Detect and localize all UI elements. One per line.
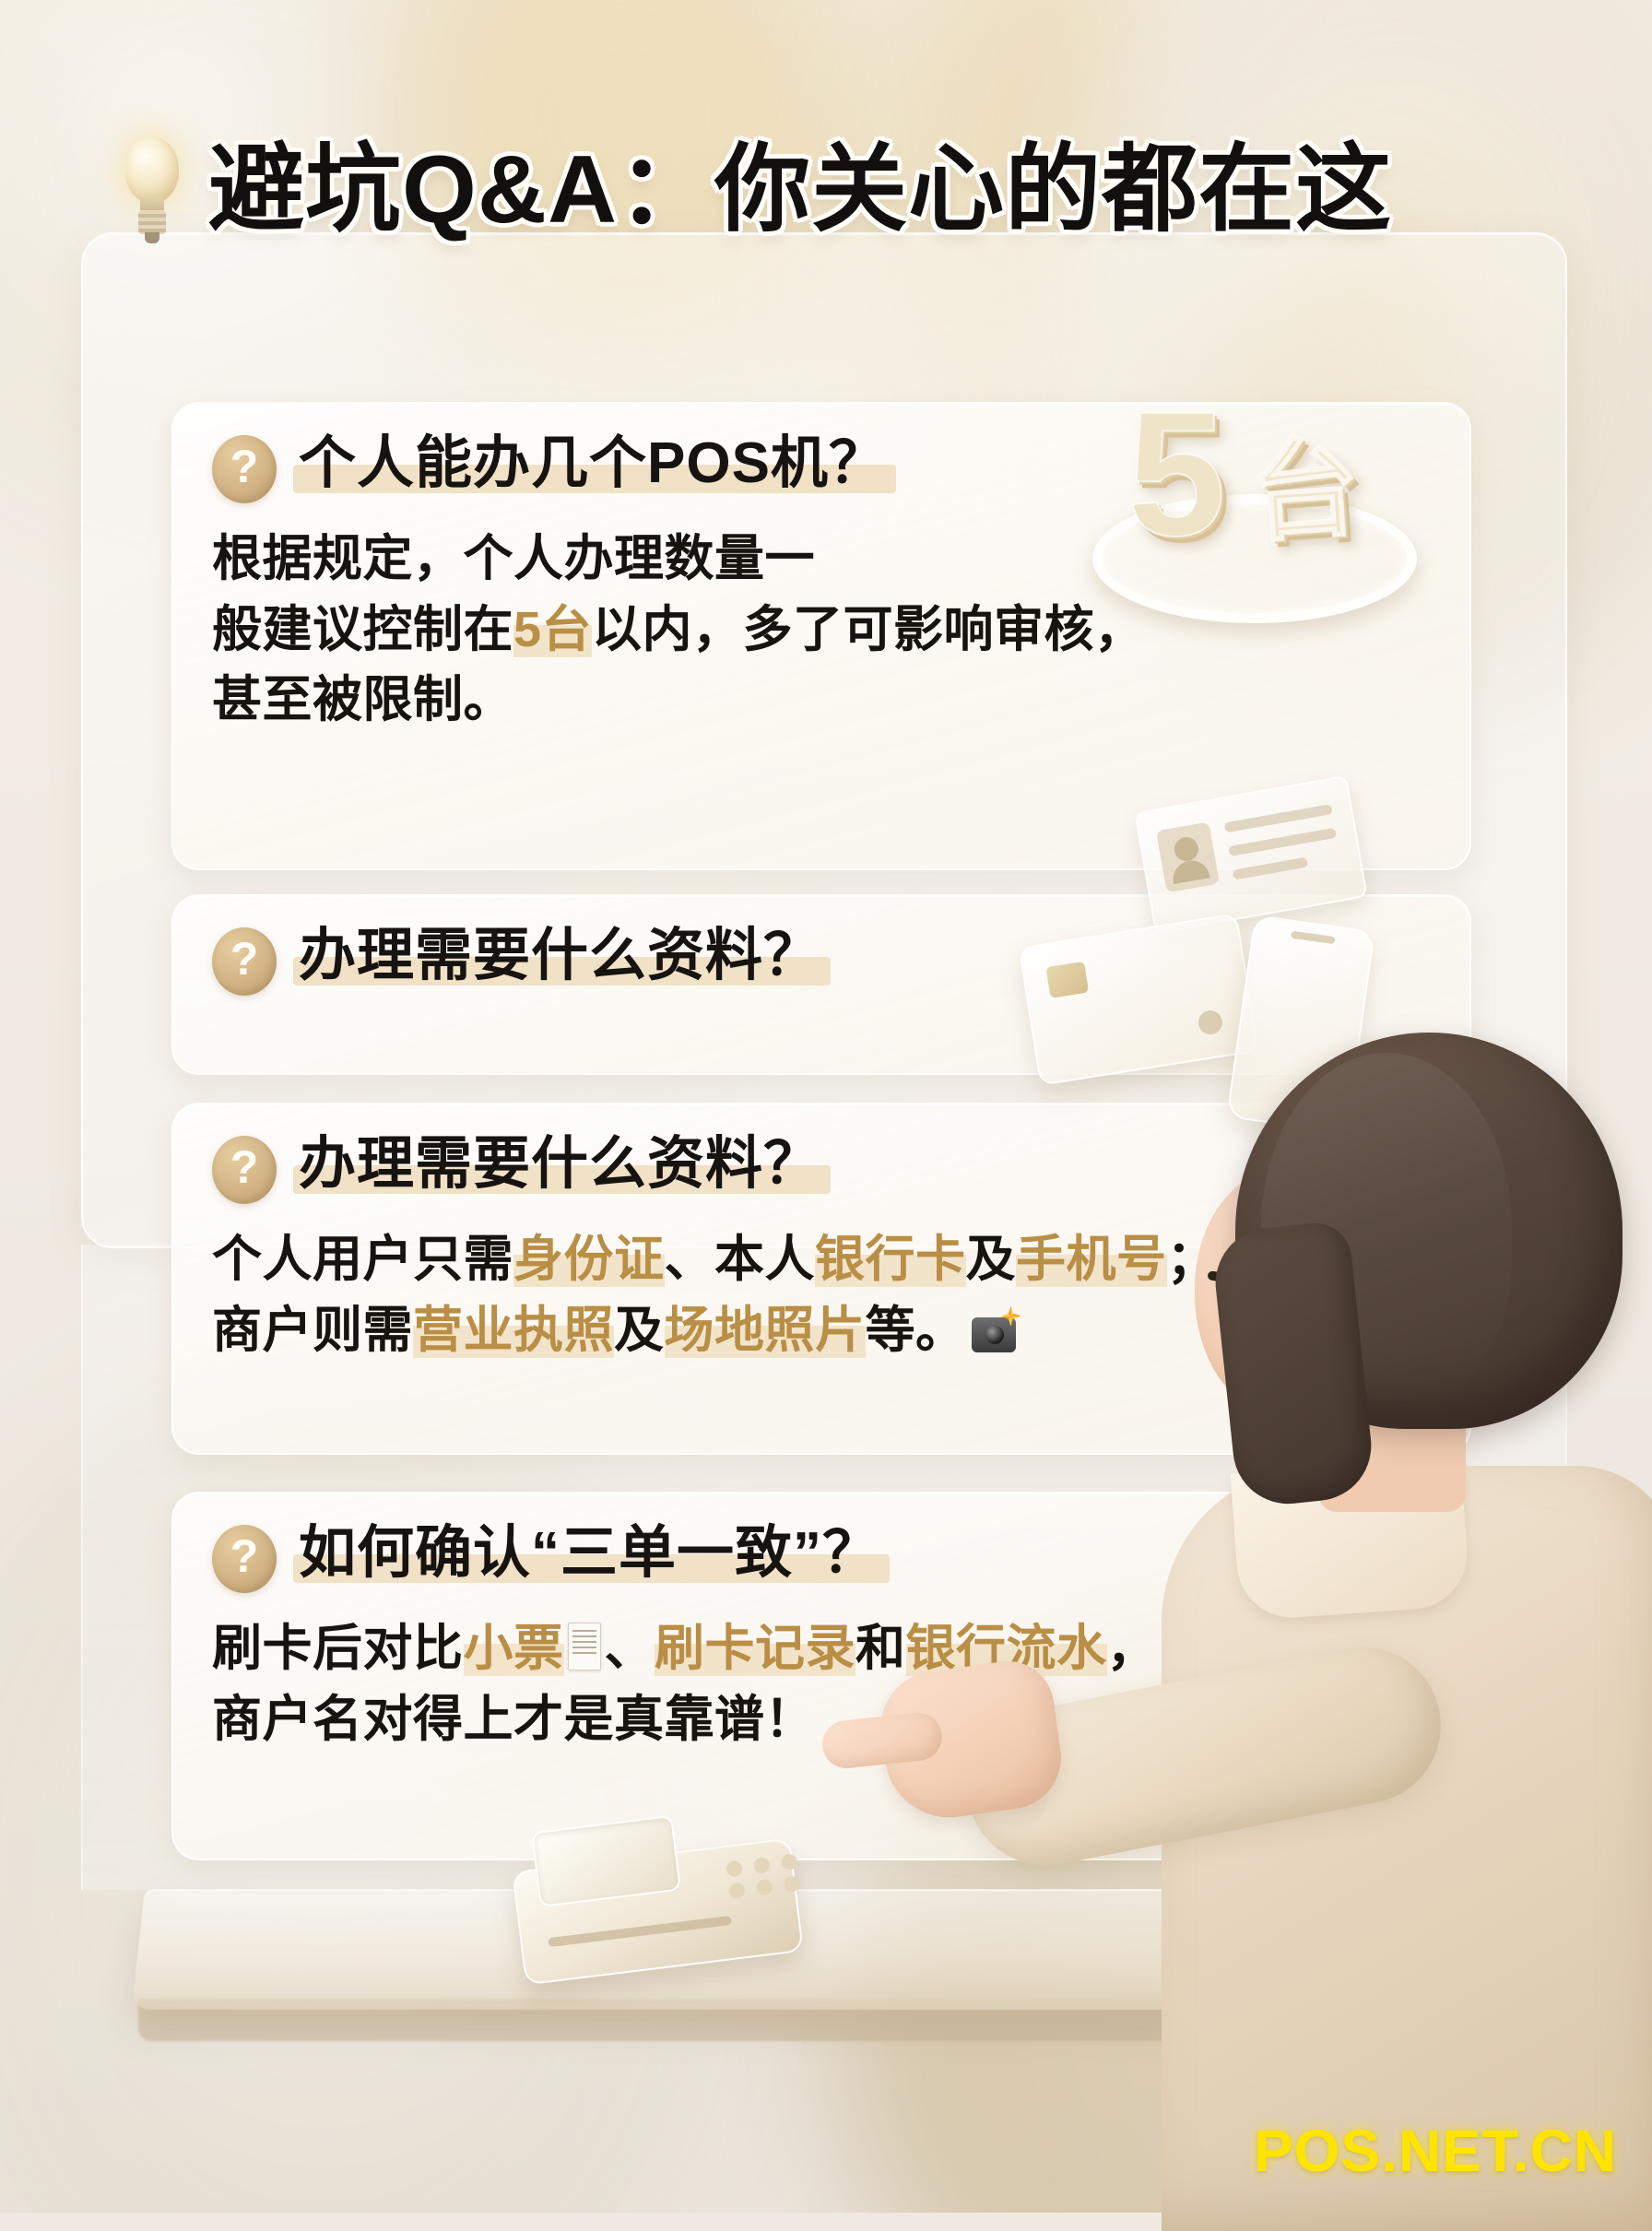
character-hair-lock bbox=[1210, 1220, 1377, 1509]
pos-terminal-illustration bbox=[506, 1791, 830, 2008]
lightbulb-icon bbox=[118, 135, 186, 245]
question-mark-icon: ? bbox=[212, 927, 277, 996]
id-card-icon bbox=[1134, 775, 1368, 935]
five-number-glyph: 5 bbox=[1127, 385, 1226, 562]
qa-card-4-question-text: 如何确认“三单一致”？ bbox=[299, 1521, 880, 1585]
highlight-receipt: 小票 bbox=[464, 1621, 564, 1676]
question-mark-icon: ? bbox=[212, 435, 277, 503]
question-mark-icon: ? bbox=[212, 1525, 277, 1593]
five-units-3d-decoration: 5 台 bbox=[1083, 385, 1424, 616]
page-header: 避坑Q&A：你关心的都在这 bbox=[118, 135, 1392, 245]
qa-card-2-question: 办理需要什么资料？ bbox=[299, 924, 821, 987]
watermark: POS.NET.CN bbox=[1254, 2117, 1617, 2185]
qa-card-4-question: 如何确认“三单一致”？ bbox=[299, 1521, 880, 1585]
highlight-swipe-record: 刷卡记录 bbox=[655, 1621, 855, 1676]
highlight-license: 营业执照 bbox=[413, 1303, 614, 1358]
qa-card-3-question: 办理需要什么资料？ bbox=[299, 1132, 821, 1196]
page-title: 避坑Q&A：你关心的都在这 bbox=[208, 141, 1392, 239]
qa-card-3-question-text: 办理需要什么资料？ bbox=[299, 1132, 821, 1196]
receipt-icon bbox=[568, 1623, 601, 1670]
character-illustration bbox=[931, 1033, 1652, 2222]
answer-line: 甚至被限制。 bbox=[212, 665, 1431, 736]
highlight-5tai: 5台 bbox=[513, 602, 592, 657]
qa-card-1-question: 个人能办几个POS机？ bbox=[299, 431, 887, 495]
question-mark-icon: ? bbox=[212, 1136, 277, 1204]
qa-card-1-question-text: 个人能办几个POS机？ bbox=[299, 431, 887, 495]
highlight-site-photo: 场地照片 bbox=[665, 1303, 866, 1358]
qa-card-2-question-text: 办理需要什么资料？ bbox=[299, 924, 821, 987]
highlight-id-card: 身份证 bbox=[513, 1232, 665, 1287]
tai-unit-glyph: 台 bbox=[1247, 433, 1363, 549]
